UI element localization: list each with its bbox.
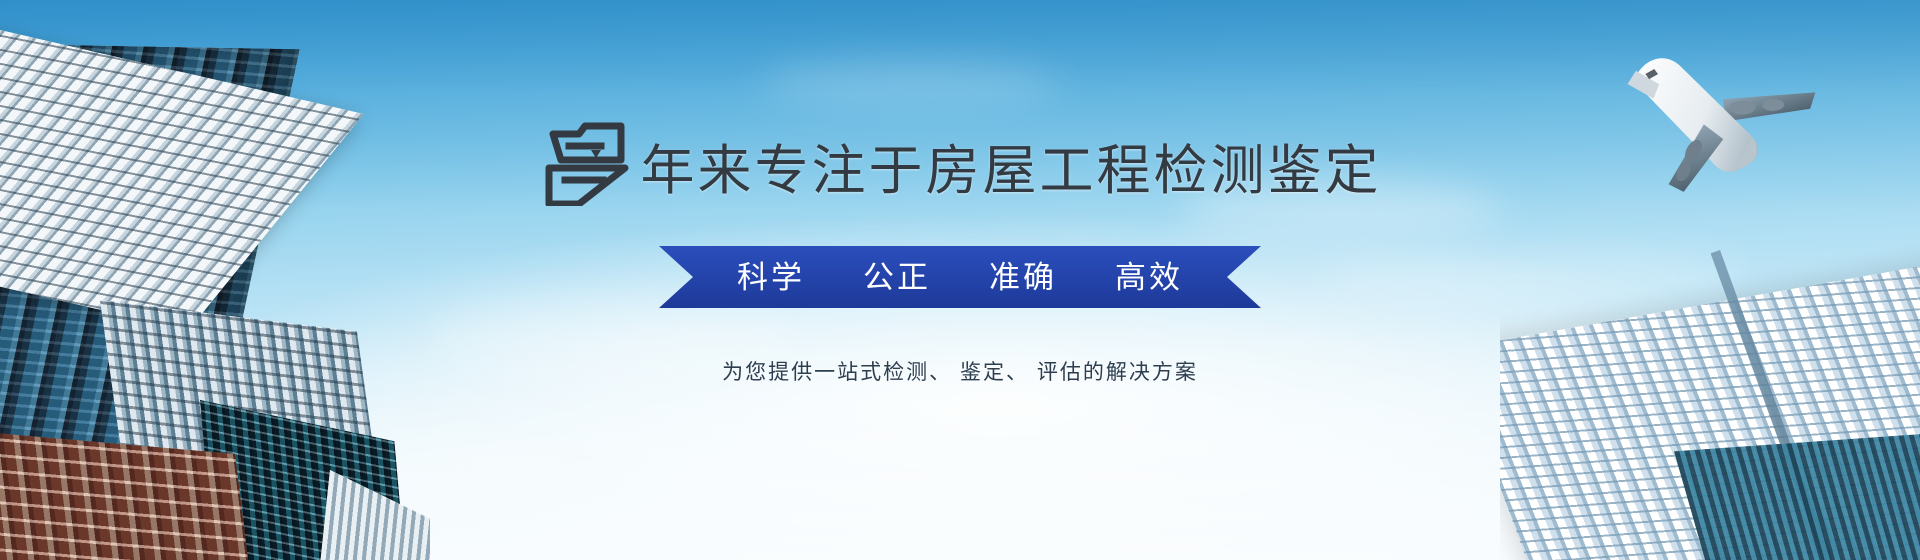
- slogan-ribbon: 科学 公正 准确 高效: [659, 246, 1261, 308]
- lead-character-duo-icon: [539, 120, 639, 206]
- ribbon-item-3: 高效: [1115, 262, 1183, 293]
- hero-banner: 年来专注于房屋工程检测鉴定 科学 公正 准确 高效 为您提供一站式检测、 鉴定、…: [0, 0, 1920, 560]
- page-title: 年来专注于房屋工程检测鉴定: [539, 120, 1382, 206]
- ribbon-shape: 科学 公正 准确 高效: [659, 246, 1261, 308]
- ribbon-item-1: 公正: [863, 262, 931, 293]
- ribbon-item-2: 准确: [989, 262, 1057, 293]
- ribbon-item-0: 科学: [737, 262, 805, 293]
- headline-text: 年来专注于房屋工程检测鉴定: [641, 140, 1382, 206]
- banner-subtitle: 为您提供一站式检测、 鉴定、 评估的解决方案: [722, 356, 1198, 386]
- banner-content: 年来专注于房屋工程检测鉴定 科学 公正 准确 高效 为您提供一站式检测、 鉴定、…: [0, 0, 1920, 560]
